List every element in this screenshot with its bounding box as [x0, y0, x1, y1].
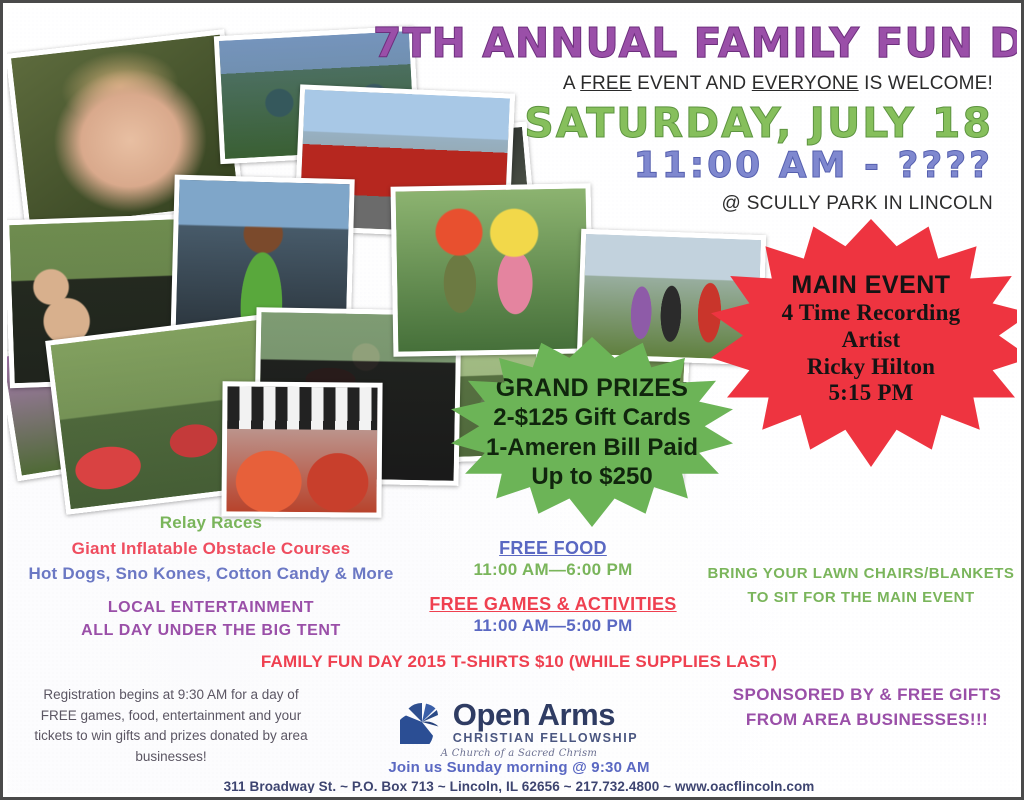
- footer-address-line: 311 Broadway St. ~ P.O. Box 713 ~ Lincol…: [7, 779, 1017, 793]
- info-bands: Relay Races Giant Inflatable Obstacle Co…: [7, 510, 1017, 640]
- lawn-chairs-note: BRING YOUR LAWN CHAIRS/BLANKETS TO SIT F…: [701, 562, 1017, 610]
- grand-prizes-line-4: Up to $250: [486, 462, 698, 491]
- logo-text: Open Arms CHRISTIAN FELLOWSHIP: [453, 699, 638, 745]
- flyer-paper: 7TH ANNUAL FAMILY FUN DAY A FREE EVENT A…: [7, 7, 1017, 793]
- subtitle: A FREE EVENT AND EVERYONE IS WELCOME!: [373, 73, 993, 95]
- event-time: 11:00 AM - ????: [373, 147, 993, 185]
- main-event-line-5: 5:15 PM: [782, 380, 961, 407]
- activity-local-entertainment-line-1: LOCAL ENTERTAINMENT: [15, 596, 407, 619]
- sponsor-note: SPONSORED BY & FREE GIFTS FROM AREA BUSI…: [707, 683, 1017, 732]
- logo-name: Open Arms: [453, 699, 638, 730]
- subtitle-pre: A: [563, 73, 580, 94]
- grand-prizes-line-3: 1-Ameren Bill Paid: [486, 433, 698, 462]
- activities-column: Relay Races Giant Inflatable Obstacle Co…: [15, 510, 407, 642]
- grand-prizes-text: GRAND PRIZES 2-$125 Gift Cards 1-Ameren …: [486, 373, 698, 491]
- lawn-chairs-line-1: BRING YOUR LAWN CHAIRS/BLANKETS: [701, 562, 1017, 586]
- page-title: 7TH ANNUAL FAMILY FUN DAY: [373, 23, 993, 64]
- logo-tagline: A Church of a Sacred Chrism: [367, 748, 671, 759]
- main-event-text: MAIN EVENT 4 Time Recording Artist Ricky…: [782, 271, 961, 407]
- sponsor-line-2: FROM AREA BUSINESSES!!!: [707, 708, 1017, 733]
- subtitle-free: FREE: [580, 73, 631, 94]
- main-event-line-2: 4 Time Recording: [782, 300, 961, 327]
- logo-subtitle: CHRISTIAN FELLOWSHIP: [453, 732, 638, 745]
- free-food-label: FREE FOOD: [407, 538, 699, 559]
- main-event-line-4: Ricky Hilton: [782, 354, 961, 381]
- logo-row: Open Arms CHRISTIAN FELLOWSHIP: [367, 699, 671, 745]
- lawn-chairs-line-2: TO SIT FOR THE MAIN EVENT: [701, 586, 1017, 610]
- activity-local-entertainment: LOCAL ENTERTAINMENT ALL DAY UNDER THE BI…: [15, 596, 407, 642]
- grand-prizes-line-1: GRAND PRIZES: [486, 373, 698, 404]
- tshirt-note: FAMILY FUN DAY 2015 T-SHIRTS $10 (WHILE …: [7, 652, 1017, 672]
- activity-food-items: Hot Dogs, Sno Kones, Cotton Candy & More: [15, 561, 407, 587]
- free-games-label: FREE GAMES & ACTIVITIES: [407, 594, 699, 615]
- subtitle-everyone: EVERYONE: [752, 73, 859, 94]
- sponsor-line-1: SPONSORED BY & FREE GIFTS: [707, 683, 1017, 708]
- main-event-line-1: MAIN EVENT: [782, 271, 961, 300]
- flyer-page: 7TH ANNUAL FAMILY FUN DAY A FREE EVENT A…: [0, 0, 1024, 800]
- open-arms-logo-icon: [400, 700, 444, 744]
- open-arms-logo: Open Arms CHRISTIAN FELLOWSHIP A Church …: [367, 699, 671, 759]
- event-date: SATURDAY, JULY 18: [373, 102, 993, 145]
- grand-prizes-line-2: 2-$125 Gift Cards: [486, 403, 698, 432]
- free-food-time: 11:00 AM—6:00 PM: [407, 560, 699, 580]
- activity-local-entertainment-line-2: ALL DAY UNDER THE BIG TENT: [15, 619, 407, 642]
- subtitle-post: IS WELCOME!: [859, 73, 993, 94]
- subtitle-mid: EVENT AND: [632, 73, 752, 94]
- activity-obstacle-courses: Giant Inflatable Obstacle Courses: [15, 536, 407, 562]
- registration-note: Registration begins at 9:30 AM for a day…: [25, 685, 317, 767]
- flyer-header: 7TH ANNUAL FAMILY FUN DAY A FREE EVENT A…: [373, 23, 993, 215]
- schedule-column: FREE FOOD 11:00 AM—6:00 PM FREE GAMES & …: [407, 538, 699, 636]
- free-games-time: 11:00 AM—5:00 PM: [407, 616, 699, 636]
- main-event-line-3: Artist: [782, 327, 961, 354]
- collage-photo-bounce-house: [221, 381, 382, 517]
- event-venue: @ SCULLY PARK IN LINCOLN: [373, 193, 993, 215]
- footer-sunday-line: Join us Sunday morning @ 9:30 AM: [7, 759, 1017, 776]
- activity-relay-races: Relay Races: [15, 510, 407, 536]
